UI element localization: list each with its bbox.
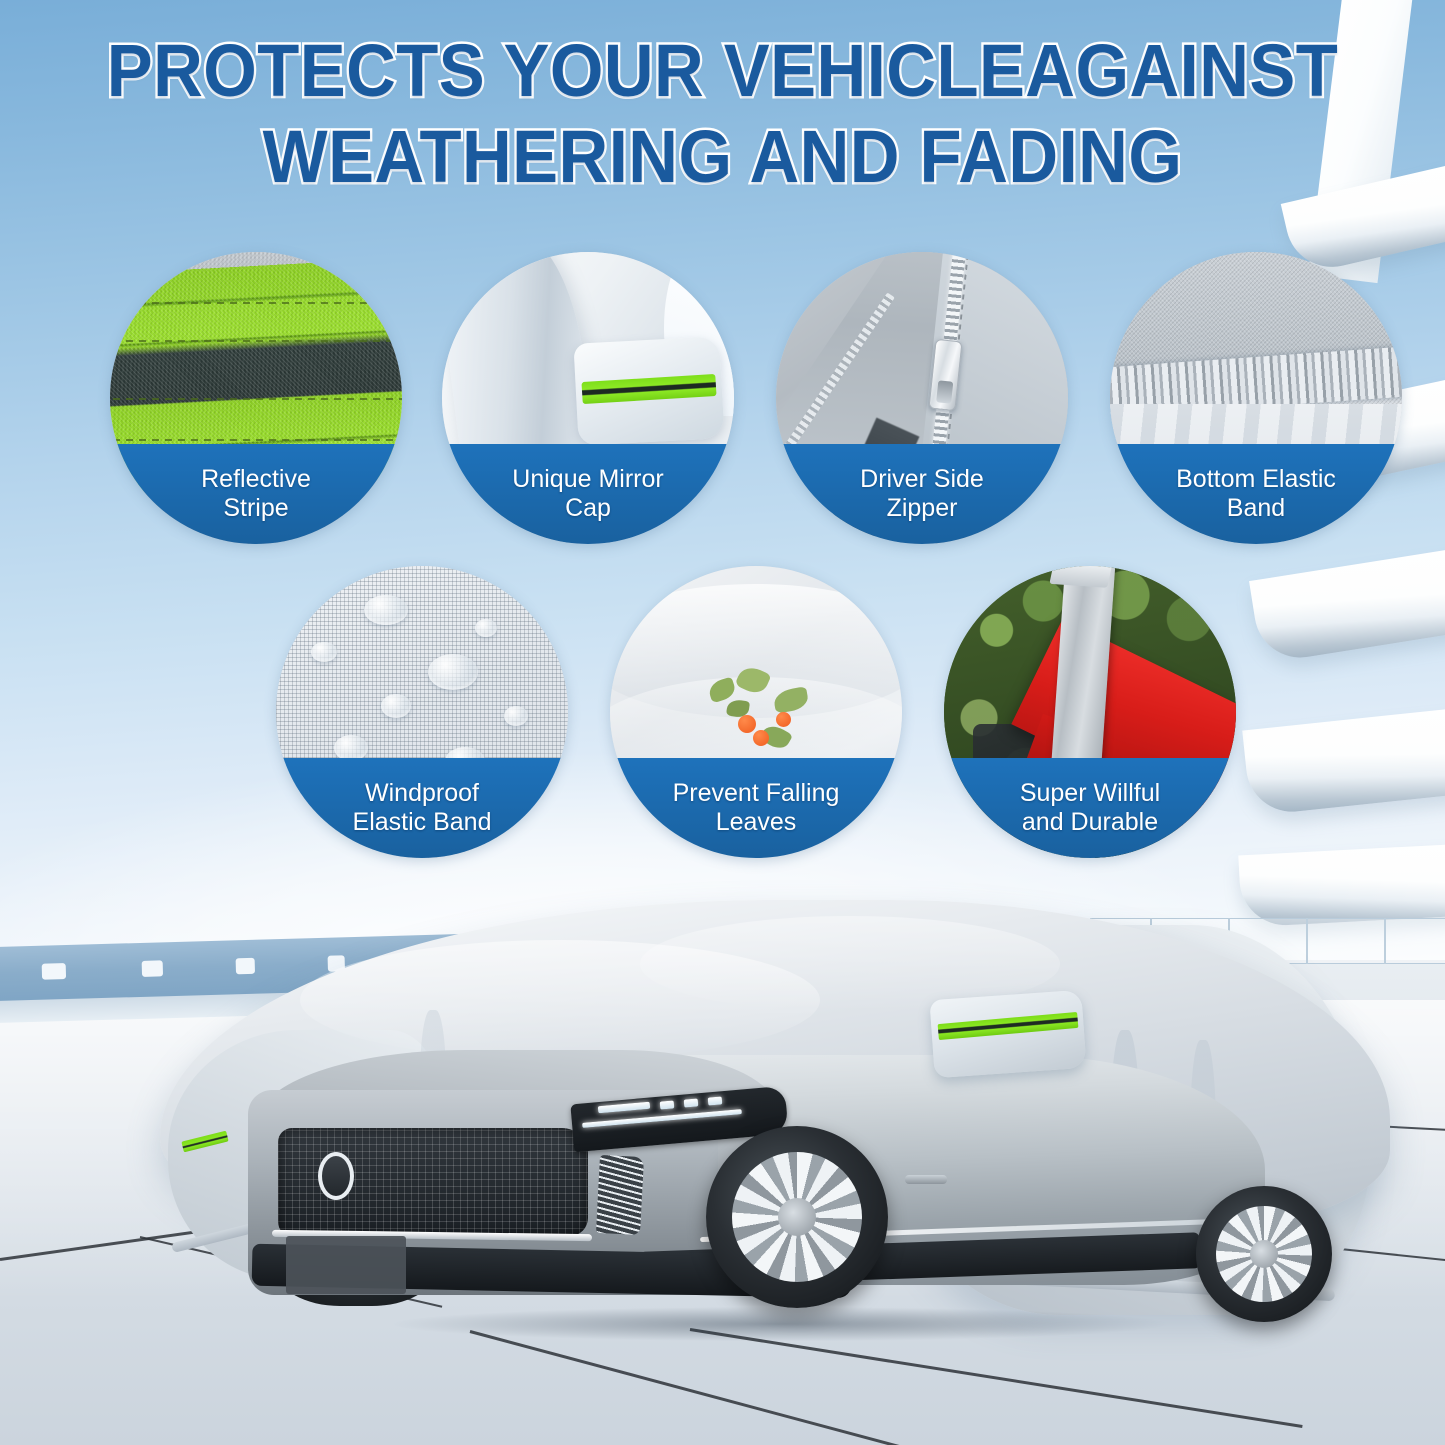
- caption-line-2: Zipper: [887, 494, 958, 524]
- feature-caption: Windproof Elastic Band: [276, 758, 568, 858]
- vehicle-emblem: [318, 1152, 354, 1200]
- vehicle-shadow: [240, 1300, 1320, 1348]
- caption-line-2: Band: [1227, 494, 1285, 524]
- license-plate-area: [286, 1236, 406, 1294]
- caption-line-2: Stripe: [223, 494, 288, 524]
- caption-line-1: Super Willful: [1020, 779, 1160, 809]
- feature-caption: Bottom Elastic Band: [1110, 444, 1402, 544]
- caption-line-2: Cap: [565, 494, 611, 524]
- feature-caption: Prevent Falling Leaves: [610, 758, 902, 858]
- caption-line-1: Unique Mirror: [512, 465, 663, 495]
- caption-line-1: Bottom Elastic: [1176, 465, 1336, 495]
- caption-line-2: Leaves: [716, 808, 797, 838]
- caption-line-2: and Durable: [1022, 808, 1158, 838]
- front-wheel: [706, 1126, 888, 1308]
- caption-line-2: Elastic Band: [353, 808, 492, 838]
- feature-super-willful-durable[interactable]: Super Willful and Durable: [944, 566, 1236, 858]
- headline-line-2: WEATHERING AND FADING: [51, 120, 1395, 194]
- feature-driver-side-zipper[interactable]: Driver Side Zipper: [776, 252, 1068, 544]
- feature-prevent-falling-leaves[interactable]: Prevent Falling Leaves: [610, 566, 902, 858]
- feature-reflective-stripe[interactable]: Reflective Stripe: [110, 252, 402, 544]
- rear-wheel: [1196, 1186, 1332, 1322]
- caption-line-1: Prevent Falling: [673, 779, 840, 809]
- feature-unique-mirror-cap[interactable]: Unique Mirror Cap: [442, 252, 734, 544]
- bumper-vent: [596, 1155, 644, 1235]
- headline-line-1: PROTECTS YOUR VEHICLEAGAINST: [107, 29, 1339, 112]
- feature-windproof-elastic-band[interactable]: Windproof Elastic Band: [276, 566, 568, 858]
- headline: PROTECTS YOUR VEHICLEAGAINST WEATHERING …: [51, 34, 1395, 194]
- feature-caption: Reflective Stripe: [110, 444, 402, 544]
- feature-caption: Driver Side Zipper: [776, 444, 1068, 544]
- feature-caption: Unique Mirror Cap: [442, 444, 734, 544]
- door-handle: [905, 1175, 947, 1184]
- feature-caption: Super Willful and Durable: [944, 758, 1236, 858]
- caption-line-1: Windproof: [365, 779, 479, 809]
- caption-line-1: Driver Side: [860, 465, 984, 495]
- feature-bottom-elastic-band[interactable]: Bottom Elastic Band: [1110, 252, 1402, 544]
- product-infographic: PROTECTS YOUR VEHICLEAGAINST WEATHERING …: [0, 0, 1445, 1445]
- caption-line-1: Reflective: [201, 465, 311, 495]
